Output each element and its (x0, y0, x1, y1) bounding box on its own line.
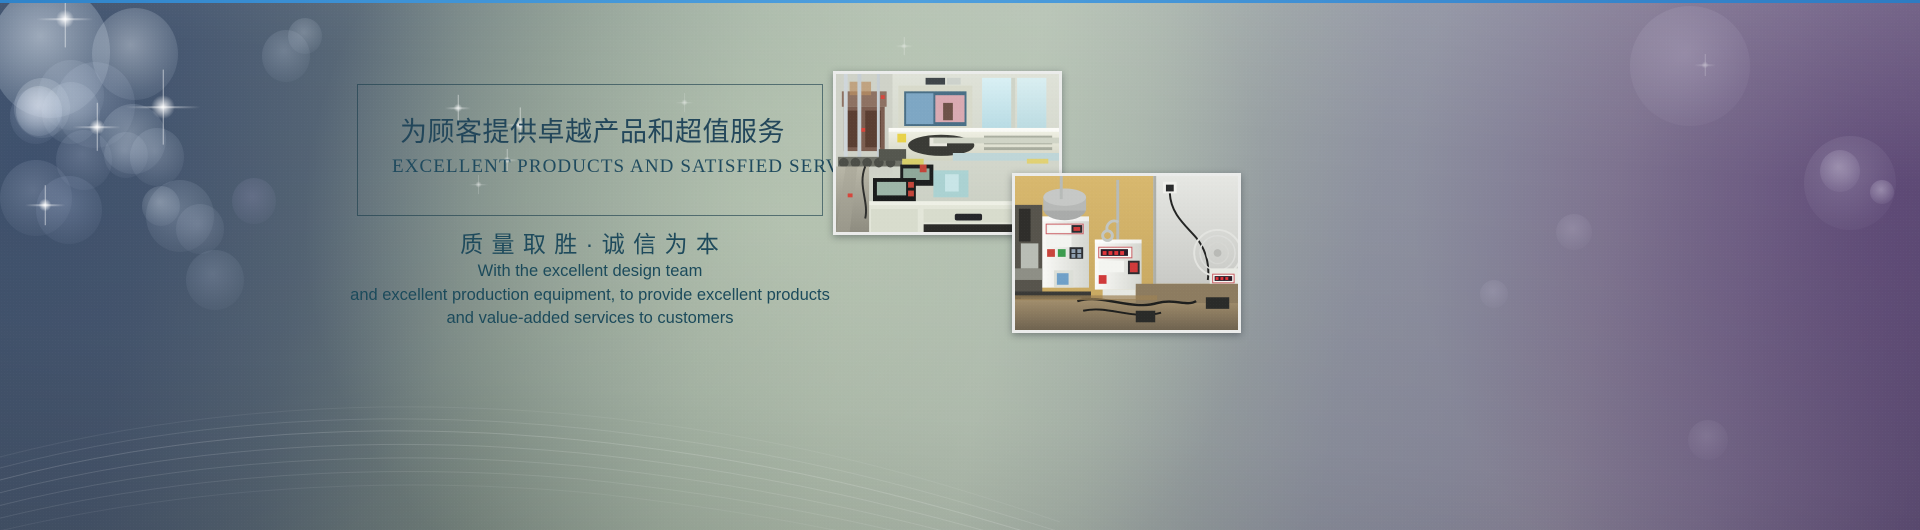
promo-banner: 为顾客提供卓越产品和超值服务 EXCELLENT PRODUCTS AND SA… (0, 0, 1920, 530)
film-grain-overlay (0, 0, 1920, 530)
top-accent-rule (0, 0, 1920, 3)
